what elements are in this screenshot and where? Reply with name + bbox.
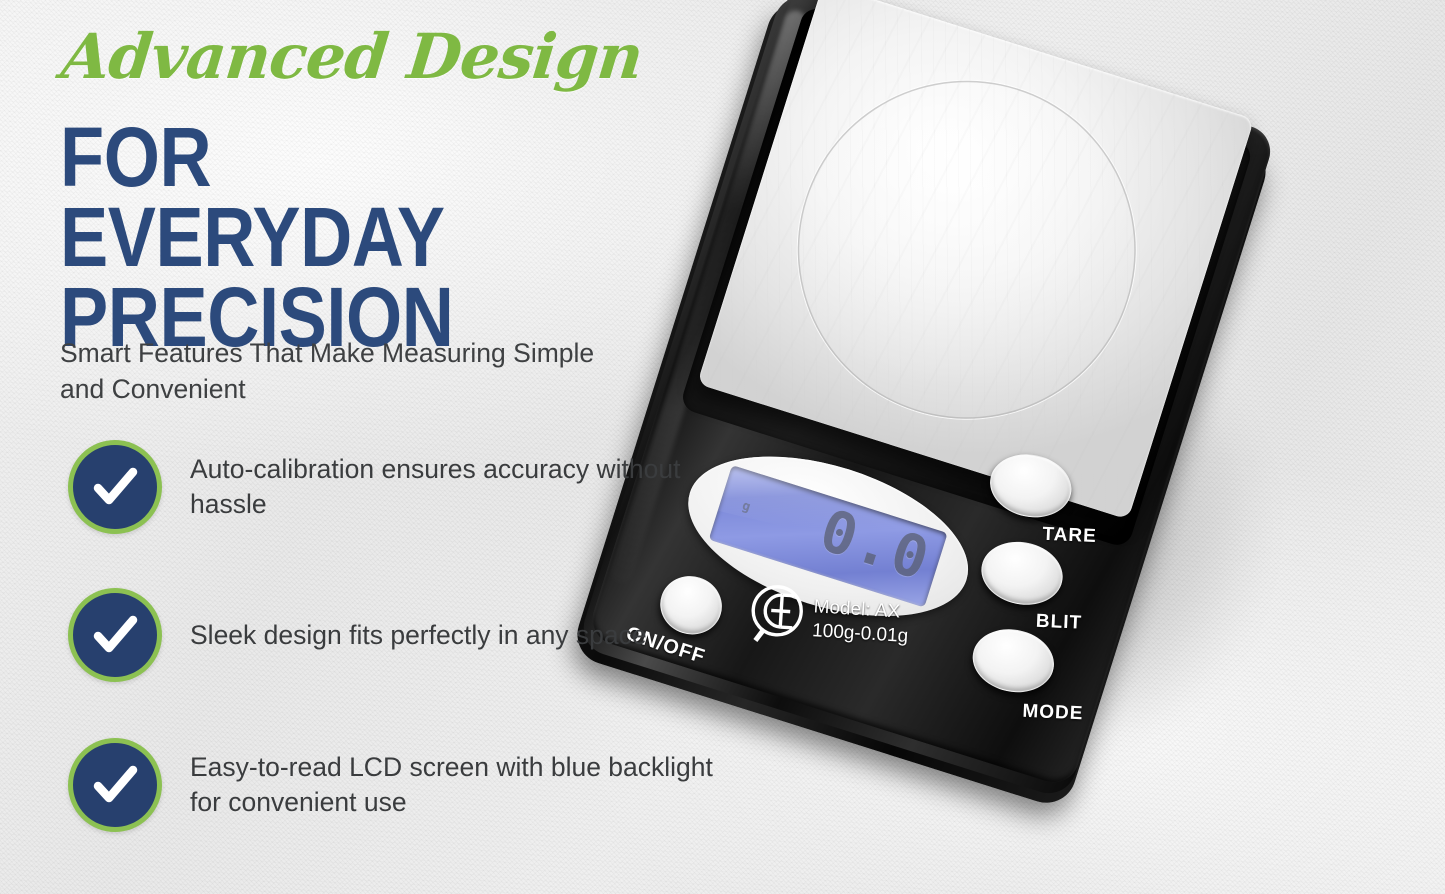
script-title: Advanced Design [59, 26, 645, 88]
subtitle: Smart Features That Make Measuring Simpl… [60, 336, 640, 407]
lcd-value: 0.0 [814, 501, 937, 590]
feature-bullet: Sleek design fits perfectly in any space [68, 588, 647, 682]
check-badge [68, 440, 162, 534]
check-icon [89, 461, 141, 513]
mode-button-label: MODE [1022, 701, 1084, 726]
feature-bullet: Auto-calibration ensures accuracy withou… [68, 440, 730, 534]
check-badge [68, 588, 162, 682]
feature-bullet-label: Auto-calibration ensures accuracy withou… [190, 452, 730, 522]
tare-button-label: TARE [1042, 524, 1097, 548]
page-title: FOR EVERYDAY PRECISION [60, 118, 593, 357]
feature-bullet-label: Easy-to-read LCD screen with blue backli… [190, 750, 730, 820]
headline-line-1: FOR EVERYDAY [60, 118, 593, 278]
feature-bullet-label: Sleek design fits perfectly in any space [190, 618, 647, 653]
blit-button-label: BLIT [1035, 611, 1082, 635]
check-badge [68, 738, 162, 832]
model-markings: Model: AX 100g-0.01g [811, 595, 910, 649]
check-icon [89, 609, 141, 661]
feature-bullet: Easy-to-read LCD screen with blue backli… [68, 738, 730, 832]
left-text-panel: Advanced Design FOR EVERYDAY PRECISION S… [0, 0, 780, 894]
check-icon [89, 759, 141, 811]
